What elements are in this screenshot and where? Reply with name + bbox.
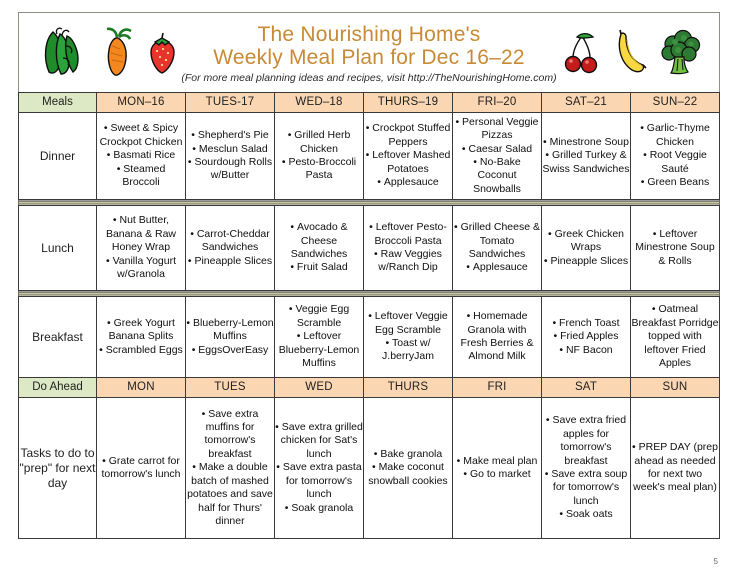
meal-item: Nut Butter, Banana & Raw Honey Wrap [97,214,185,254]
meal-item: Grilled Herb Chicken [275,129,363,156]
meal-item: Save extra fried apples for tomorrow's b… [542,414,630,468]
header-decorations-left [33,13,181,93]
meal-item: Go to market [453,468,541,481]
cell-dinner-wed: Grilled Herb ChickenPesto-Broccoli Pasta [275,113,364,200]
meal-plan-page: The Nourishing Home's Weekly Meal Plan f… [0,0,736,568]
meal-item: Save extra pasta for tomorrow's lunch [275,461,363,501]
do-ahead-header-label: Do Ahead [19,378,97,398]
meal-item: Grilled Cheese & Tomato Sandwiches [453,221,541,261]
row-label-breakfast: Breakfast [19,297,97,378]
meal-item: NF Bacon [542,344,630,357]
cell-tasks-mon: Grate carrot for tomorrow's lunch [97,398,186,539]
meal-item: Sourdough Rolls w/Butter [186,156,274,183]
day-header-sun: SUN–22 [631,93,720,113]
do-ahead-day-thurs: THURS [364,378,453,398]
meal-item: Greek Yogurt Banana Splits [97,317,185,344]
do-ahead-day-mon: MON [97,378,186,398]
day-header-fri: FRI–20 [453,93,542,113]
meal-row-dinner: Dinner Sweet & Spicy Crockpot ChickenBas… [19,113,720,200]
cell-lunch-sat: Greek Chicken WrapsPineapple Slices [542,206,631,291]
meal-item: Fried Apples [542,330,630,343]
day-header-wed: WED–18 [275,93,364,113]
day-header-thurs: THURS–19 [364,93,453,113]
broccoli-icon [655,24,707,82]
meal-item: Root Veggie Sauté [631,149,719,176]
cell-breakfast-mon: Greek Yogurt Banana SplitsScrambled Eggs [97,297,186,378]
cell-lunch-sun: Leftover Minestrone Soup & Rolls [631,206,720,291]
cell-lunch-fri: Grilled Cheese & Tomato SandwichesApples… [453,206,542,291]
cell-breakfast-wed: Veggie Egg ScrambleLeftover Blueberry-Le… [275,297,364,378]
meal-item: Steamed Broccoli [97,163,185,190]
strawberry-icon [143,24,181,82]
meals-header-label: Meals [19,93,97,113]
cell-lunch-wed: Avocado & Cheese SandwichesFruit Salad [275,206,364,291]
meal-item: Leftover Veggie Egg Scramble [364,310,452,337]
cherries-icon [561,24,603,82]
meal-item: Save extra muffins for tomorrow's breakf… [186,408,274,462]
meal-item: Bake granola [364,448,452,461]
meal-row-lunch: Lunch Nut Butter, Banana & Raw Honey Wra… [19,206,720,291]
meal-item: Pineapple Slices [186,255,274,268]
meal-item: Fruit Salad [275,261,363,274]
cell-dinner-sat: Minestrone SoupGrilled Turkey & Swiss Sa… [542,113,631,200]
meal-item: Crockpot Stuffed Peppers [364,122,452,149]
meal-item: Vanilla Yogurt w/Granola [97,255,185,282]
cell-breakfast-tues: Blueberry-Lemon MuffinsEggsOverEasy [186,297,275,378]
header-title-block: The Nourishing Home's Weekly Meal Plan f… [181,21,556,85]
meal-item: Pesto-Broccoli Pasta [275,156,363,183]
page-number: 5 [714,557,718,566]
meal-item: Grate carrot for tomorrow's lunch [97,455,185,482]
meal-item: Scrambled Eggs [97,344,185,357]
meal-item: Save extra soup for tomorrow's lunch [542,468,630,508]
day-header-tues: TUES-17 [186,93,275,113]
meal-item: Personal Veggie Pizzas [453,116,541,143]
meal-item: Garlic-Thyme Chicken [631,122,719,149]
meal-item: Leftover Blueberry-Lemon Muffins [275,330,363,370]
do-ahead-day-sun: SUN [631,378,720,398]
meal-item: Shepherd's Pie [186,129,274,142]
cell-tasks-tues: Save extra muffins for tomorrow's breakf… [186,398,275,539]
cell-dinner-fri: Personal Veggie PizzasCaesar SaladNo-Bak… [453,113,542,200]
banana-icon [607,24,651,82]
cell-lunch-mon: Nut Butter, Banana & Raw Honey WrapVanil… [97,206,186,291]
cell-dinner-sun: Garlic-Thyme ChickenRoot Veggie SautéGre… [631,113,720,200]
page-header: The Nourishing Home's Weekly Meal Plan f… [18,12,720,92]
header-decorations-right [561,13,707,93]
meal-item: Carrot-Cheddar Sandwiches [186,228,274,255]
meal-item: EggsOverEasy [186,344,274,357]
cell-tasks-fri: Make meal planGo to market [453,398,542,539]
cell-dinner-tues: Shepherd's PieMesclun SaladSourdough Rol… [186,113,275,200]
page-title-line1: The Nourishing Home's [181,23,556,47]
meal-item: Make coconut snowball cookies [364,461,452,488]
meal-item: Mesclun Salad [186,143,274,156]
cell-tasks-wed: Save extra grilled chicken for Sat's lun… [275,398,364,539]
meal-item: PREP DAY (prep ahead as needed for next … [631,441,719,495]
row-label-tasks: Tasks to do to "prep" for next day [19,398,97,539]
meals-header-row: Meals MON–16 TUES-17 WED–18 THURS–19 FRI… [19,93,720,113]
meal-item: Greek Chicken Wraps [542,228,630,255]
meal-item: French Toast [542,317,630,330]
meal-item: Toast w/ J.berryJam [364,337,452,364]
meal-item: Raw Veggies w/Ranch Dip [364,248,452,275]
do-ahead-day-sat: SAT [542,378,631,398]
meal-item: Caesar Salad [453,143,541,156]
meal-item: Leftover Mashed Potatoes [364,149,452,176]
meal-item: Applesauce [364,176,452,189]
meal-plan-table: Meals MON–16 TUES-17 WED–18 THURS–19 FRI… [18,92,720,539]
cell-breakfast-thurs: Leftover Veggie Egg ScrambleToast w/ J.b… [364,297,453,378]
meal-item: No-Bake Coconut Snowballs [453,156,541,196]
meal-item: Veggie Egg Scramble [275,303,363,330]
do-ahead-header-row: Do Ahead MON TUES WED THURS FRI SAT SUN [19,378,720,398]
cell-breakfast-sat: French ToastFried ApplesNF Bacon [542,297,631,378]
do-ahead-day-wed: WED [275,378,364,398]
cell-lunch-thurs: Leftover Pesto-Broccoli PastaRaw Veggies… [364,206,453,291]
meal-item: Sweet & Spicy Crockpot Chicken [97,122,185,149]
cell-lunch-tues: Carrot-Cheddar SandwichesPineapple Slice… [186,206,275,291]
page-subtitle: (For more meal planning ideas and recipe… [181,73,556,85]
cell-breakfast-fri: Homemade Granola with Fresh Berries & Al… [453,297,542,378]
meal-item: Save extra grilled chicken for Sat's lun… [275,421,363,461]
cell-tasks-sat: Save extra fried apples for tomorrow's b… [542,398,631,539]
meal-item: Basmati Rice [97,149,185,162]
meal-item: Grilled Turkey & Swiss Sandwiches [542,149,630,176]
cell-breakfast-sun: Oatmeal Breakfast Porridge topped with l… [631,297,720,378]
row-label-dinner: Dinner [19,113,97,200]
cell-dinner-mon: Sweet & Spicy Crockpot ChickenBasmati Ri… [97,113,186,200]
meal-item: Avocado & Cheese Sandwiches [275,221,363,261]
tasks-row: Tasks to do to "prep" for next day Grate… [19,398,720,539]
cell-tasks-thurs: Bake granolaMake coconut snowball cookie… [364,398,453,539]
day-header-sat: SAT–21 [542,93,631,113]
do-ahead-day-fri: FRI [453,378,542,398]
cell-dinner-thurs: Crockpot Stuffed PeppersLeftover Mashed … [364,113,453,200]
meal-item: Pineapple Slices [542,255,630,268]
day-header-mon: MON–16 [97,93,186,113]
meal-item: Make meal plan [453,455,541,468]
cell-tasks-sun: PREP DAY (prep ahead as needed for next … [631,398,720,539]
meal-item: Make a double batch of mashed potatoes a… [186,461,274,528]
meal-item: Leftover Minestrone Soup & Rolls [631,228,719,268]
carrot-icon [95,24,139,82]
meal-item: Minestrone Soup [542,136,630,149]
meal-item: Applesauce [453,261,541,274]
meal-item: Blueberry-Lemon Muffins [186,317,274,344]
row-label-lunch: Lunch [19,206,97,291]
do-ahead-day-tues: TUES [186,378,275,398]
meal-item: Soak granola [275,502,363,515]
pea-pods-icon [33,24,91,82]
meal-item: Soak oats [542,508,630,521]
meal-item: Leftover Pesto-Broccoli Pasta [364,221,452,248]
meal-row-breakfast: Breakfast Greek Yogurt Banana SplitsScra… [19,297,720,378]
meal-item: Green Beans [631,176,719,189]
page-title-line2: Weekly Meal Plan for Dec 16–22 [181,46,556,70]
meal-item: Homemade Granola with Fresh Berries & Al… [453,310,541,364]
meal-item: Oatmeal Breakfast Porridge topped with l… [631,303,719,370]
